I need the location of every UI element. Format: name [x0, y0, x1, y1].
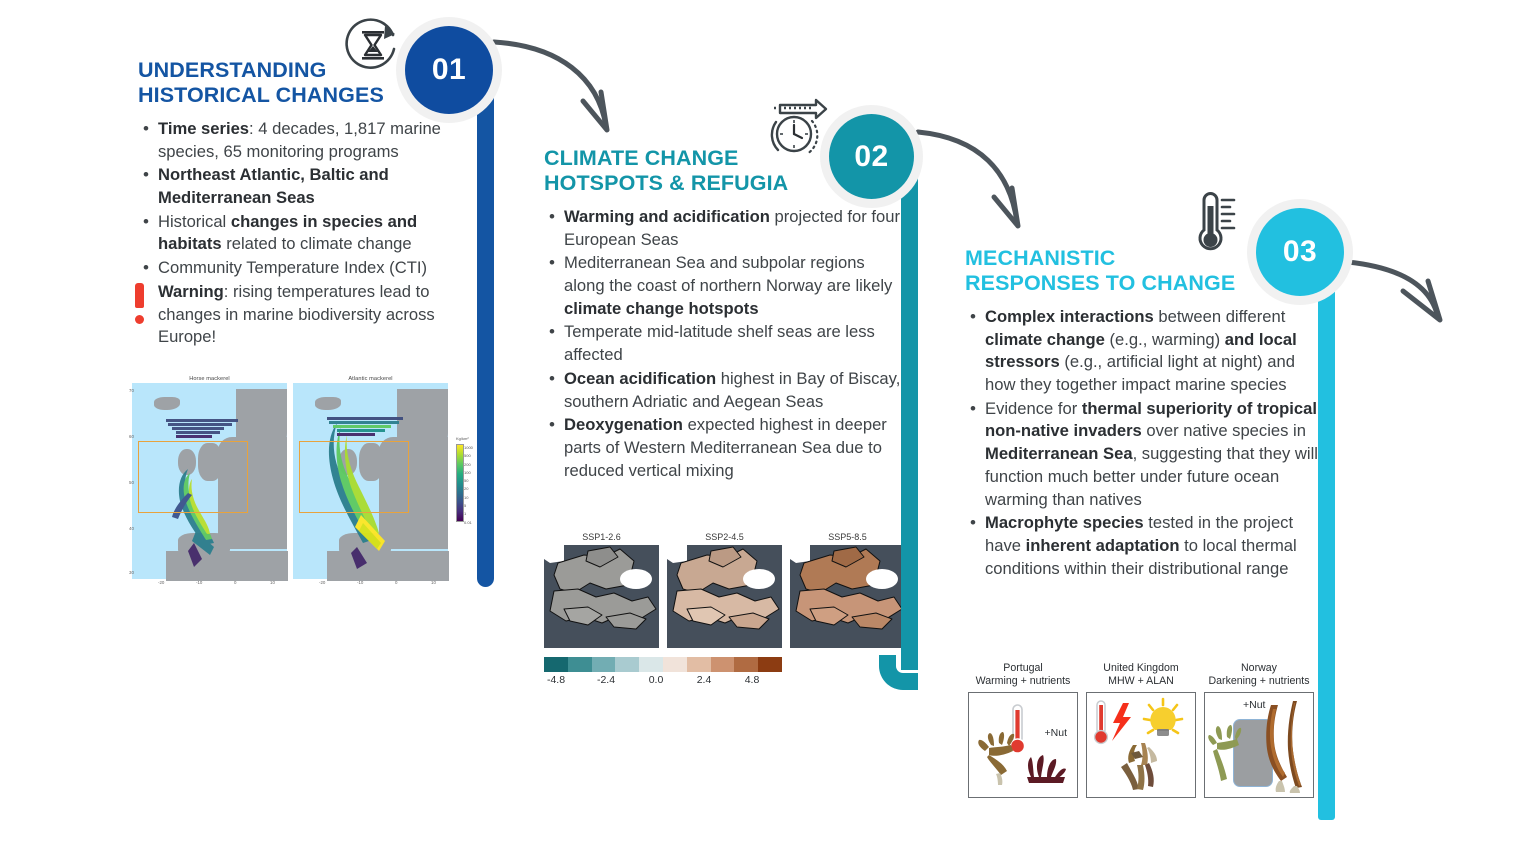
bullet-item: Macrophyte species tested in the project… [983, 512, 1320, 580]
figure-experiment-panels: Portugal Warming + nutrients +Nut [968, 662, 1314, 798]
infographic-canvas: 01 UNDERSTANDING HISTORICAL CHANGES Time… [0, 0, 1536, 864]
species-map-ytick-50: 50 [129, 480, 134, 485]
rail-step1 [477, 60, 494, 587]
ssp-map-canvas-1 [544, 545, 659, 648]
experiment-country-uk: United Kingdom [1086, 662, 1196, 675]
bullet-text: Temperate mid-latitude shelf seas are le… [564, 322, 875, 364]
ssp-panel-1: SSP1-2.6 [544, 532, 659, 648]
bullet-item: Ocean acidification highest in Bay of Bi… [562, 368, 901, 413]
bullet-item: Complex interactions between different c… [983, 306, 1320, 397]
bullet-emphasis: Warming and acidification [564, 207, 770, 226]
bullet-text: related to climate change [222, 234, 412, 253]
step-column-3: MECHANISTIC RESPONSES TO CHANGE Complex … [965, 246, 1320, 582]
species-colorbar-tick: 20 [464, 485, 473, 493]
bullet-text: between different [1154, 307, 1286, 326]
bullet-emphasis: Time series [158, 119, 249, 138]
species-map-canvas-2 [293, 383, 448, 579]
species-map-ytick-60: 60 [129, 434, 134, 439]
bullet-text: over native species in [1142, 421, 1306, 440]
bullet-item: Northeast Atlantic, Baltic and Mediterra… [156, 164, 478, 209]
experiment-caption-portugal: Portugal Warming + nutrients [968, 662, 1078, 688]
arrow-step1-to-step2 [494, 42, 607, 130]
rail-step2 [901, 150, 918, 670]
experiment-image-uk [1086, 692, 1196, 798]
species-map-title-2: Atlantic mackerel [293, 376, 448, 382]
bullet-text: Mediterranean Sea and subpolar regions a… [564, 253, 892, 295]
alga-mixed [1121, 743, 1157, 790]
species-colorbar-tick: 50 [464, 477, 473, 485]
species-map-colorbar-strip [456, 444, 464, 522]
lightning-bolt-icon [1112, 703, 1131, 741]
bullet-item: Historical changes in species and habita… [156, 211, 478, 256]
ssp-colorbar-tick: -4.8 [547, 674, 565, 686]
figure-species-distribution-maps: Horse mackerel [132, 376, 448, 579]
bullet-emphasis: Warning [158, 282, 224, 301]
species-map-ytick-30: 30 [129, 570, 134, 575]
step-number-02: 02 [854, 140, 888, 174]
ssp-colorbar-tick: 2.4 [697, 674, 712, 686]
ssp-colorbar [544, 657, 782, 672]
ssp-map-canvas-2 [667, 545, 782, 648]
alga-brown [978, 732, 1014, 785]
step-bullets-2: Warming and acidification projected for … [544, 206, 901, 483]
species-colorbar-tick: 200 [464, 461, 473, 469]
ssp-panel-title-1: SSP1-2.6 [544, 532, 659, 542]
experiment-panel-portugal: Portugal Warming + nutrients +Nut [968, 662, 1078, 798]
bullet-emphasis: climate change hotspots [564, 299, 759, 318]
species-map-colorbar: Kg/km² 1000500200100502010510.01 [456, 444, 464, 522]
kelp-brown-right [1288, 701, 1302, 793]
species-map-roi-box-2 [299, 441, 409, 513]
species-map-xtick-b3: 0 [395, 580, 397, 585]
ssp-map-canvas-3 [790, 545, 905, 648]
step-number-03: 03 [1283, 235, 1317, 269]
bullet-item: Deoxygenation expected highest in deeper… [562, 414, 901, 482]
thermometer-small-icon [1011, 705, 1025, 753]
hourglass-refresh-icon [341, 13, 405, 82]
species-map-xtick-b4: 10 [431, 580, 436, 585]
figure-ssp-projection-maps: SSP1-2.6 [544, 532, 905, 688]
species-colorbar-tick: 1 [464, 510, 473, 518]
bullet-item: Temperate mid-latitude shelf seas are le… [562, 321, 901, 366]
step-badge-03[interactable]: 03 [1256, 208, 1344, 296]
species-map-title-1: Horse mackerel [132, 376, 287, 382]
ssp-panel-2: SSP2-4.5 [667, 532, 782, 648]
light-bulb-icon [1144, 699, 1182, 736]
arrow-step3-outgoing [1348, 262, 1440, 320]
bullet-emphasis: Complex interactions [985, 307, 1154, 326]
species-map-xtick-a3: 0 [234, 580, 236, 585]
species-map-ytick-70: 70 [129, 388, 134, 393]
warning-exclamation-icon [135, 283, 144, 324]
species-map-xtick-a2: -10 [196, 580, 202, 585]
species-map-roi-box-1 [138, 441, 248, 513]
species-map-ytick-40: 40 [129, 526, 134, 531]
bullet-text: Evidence for [985, 399, 1082, 418]
ssp-panel-title-3: SSP5-8.5 [790, 532, 905, 542]
step-badge-02[interactable]: 02 [829, 114, 914, 199]
alga-green [1208, 725, 1241, 781]
experiment-image-norway: +Nut [1204, 692, 1314, 798]
species-colorbar-tick: 0.01 [464, 519, 473, 527]
experiment-caption-norway: Norway Darkening + nutrients [1204, 662, 1314, 688]
species-map-panel-2: Atlantic mackerel [293, 376, 448, 579]
rail-step3 [1318, 246, 1335, 820]
ssp-panel-title-2: SSP2-4.5 [667, 532, 782, 542]
ssp-colorbar-tick: 4.8 [745, 674, 760, 686]
experiment-country-norway: Norway [1204, 662, 1314, 675]
step-bullets-1: Time series: 4 decades, 1,817 marine spe… [138, 118, 478, 349]
thermometer-icon [1190, 190, 1244, 265]
experiment-treatment-portugal: Warming + nutrients [968, 675, 1078, 688]
step-number-01: 01 [432, 53, 466, 87]
warning-item: Warning: rising temperatures lead to cha… [156, 281, 478, 349]
species-map-xtick-a4: 10 [270, 580, 275, 585]
species-colorbar-tick: 1000 [464, 444, 473, 452]
thermometer-small-icon [1095, 701, 1108, 743]
ssp-colorbar-tick: -2.4 [597, 674, 615, 686]
species-map-xtick-b1: -20 [319, 580, 325, 585]
step-column-2: CLIMATE CHANGE HOTSPOTS & REFUGIA Warmin… [544, 146, 901, 484]
bullet-emphasis: climate change [985, 330, 1105, 349]
bullet-emphasis: Mediterranean Sea [985, 444, 1133, 463]
alga-red [1027, 755, 1066, 783]
bullet-text: Historical [158, 212, 231, 231]
arrow-step2-to-step3 [918, 132, 1018, 226]
ssp-colorbar-ticks: -4.8-2.40.02.44.8 [544, 674, 782, 688]
step-badge-01[interactable]: 01 [405, 26, 493, 114]
species-map-canvas-1 [132, 383, 287, 579]
experiment-treatment-norway: Darkening + nutrients [1204, 675, 1314, 688]
species-map-xtick-b2: -10 [357, 580, 363, 585]
bullet-emphasis: Deoxygenation [564, 415, 683, 434]
bullet-item: Evidence for thermal superiority of trop… [983, 398, 1320, 512]
species-map-colorbar-title: Kg/km² [456, 436, 469, 441]
species-map-panel-1: Horse mackerel [132, 376, 287, 579]
experiment-image-portugal: +Nut [968, 692, 1078, 798]
bullet-text: (e.g., warming) [1105, 330, 1225, 349]
experiment-treatment-uk: MHW + ALAN [1086, 675, 1196, 688]
ssp-panel-3: SSP5-8.5 [790, 532, 905, 648]
species-map-xtick-a1: -20 [158, 580, 164, 585]
experiment-country-portugal: Portugal [968, 662, 1078, 675]
clock-forward-icon [762, 94, 832, 169]
kelp-brown-left [1266, 705, 1287, 781]
bullet-text: Community Temperature Index (CTI) [158, 258, 427, 277]
experiment-panel-uk: United Kingdom MHW + ALAN [1086, 662, 1196, 798]
species-map-colorbar-ticks: 1000500200100502010510.01 [464, 444, 473, 527]
experiment-caption-uk: United Kingdom MHW + ALAN [1086, 662, 1196, 688]
bullet-emphasis: Macrophyte species [985, 513, 1144, 532]
bullet-emphasis: Ocean acidification [564, 369, 716, 388]
ssp-colorbar-tick: 0.0 [649, 674, 664, 686]
bullet-item: Mediterranean Sea and subpolar regions a… [562, 252, 901, 320]
experiment-panel-norway: Norway Darkening + nutrients +Nut [1204, 662, 1314, 798]
bullet-item: Community Temperature Index (CTI) [156, 257, 478, 280]
bullet-emphasis: inherent adaptation [1026, 536, 1180, 555]
species-colorbar-tick: 100 [464, 469, 473, 477]
species-colorbar-tick: 5 [464, 502, 473, 510]
step-bullets-3: Complex interactions between different c… [965, 306, 1320, 581]
species-colorbar-tick: 10 [464, 494, 473, 502]
bullet-item: Warming and acidification projected for … [562, 206, 901, 251]
bullet-emphasis: Northeast Atlantic, Baltic and Mediterra… [158, 165, 389, 207]
bullet-item: Time series: 4 decades, 1,817 marine spe… [156, 118, 478, 163]
species-colorbar-tick: 500 [464, 452, 473, 460]
